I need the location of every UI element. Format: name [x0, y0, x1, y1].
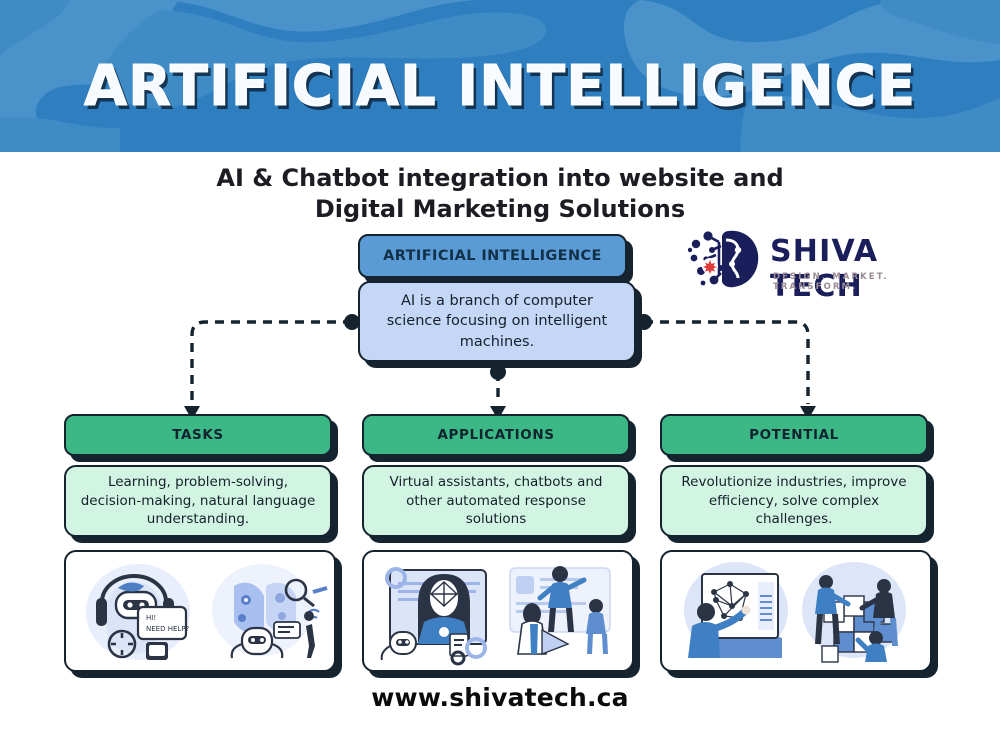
column-body-applications: Virtual assistants, chatbots and other a… [362, 465, 630, 537]
column-image-potential [660, 550, 932, 672]
connector-dot-right [636, 314, 652, 330]
column-header-potential-label: POTENTIAL [749, 427, 839, 443]
logo-wordmark: SHIVA TECH [770, 234, 946, 304]
column-body-tasks-text: Learning, problem-solving, decision-maki… [76, 473, 320, 530]
column-header-potential[interactable]: POTENTIAL [660, 414, 928, 456]
column-body-tasks: Learning, problem-solving, decision-maki… [64, 465, 332, 537]
column-body-applications-text: Virtual assistants, chatbots and other a… [374, 473, 618, 530]
column-image-applications [362, 550, 634, 672]
column-header-applications[interactable]: APPLICATIONS [362, 414, 630, 456]
subtitle-line-2: Digital Marketing Solutions [0, 194, 1000, 225]
brain-network-icon [688, 228, 766, 290]
subtitle-line-1: AI & Chatbot integration into website an… [0, 163, 1000, 194]
connector-dot-center [490, 364, 506, 380]
column-image-tasks: HI! NEED HELP? [64, 550, 336, 672]
virtual-assistant-illustration [364, 552, 632, 670]
column-header-tasks[interactable]: TASKS [64, 414, 332, 456]
column-body-potential-text: Revolutionize industries, improve effici… [672, 473, 916, 530]
ai-node-header[interactable]: ARTIFICIAL INTELLIGENCE [358, 234, 627, 278]
header-banner: ARTIFICIAL INTELLIGENCE [0, 0, 1000, 152]
infographic-page: ARTIFICIAL INTELLIGENCE AI & Chatbot int… [0, 0, 1000, 751]
column-potential: POTENTIAL Revolutionize industries, impr… [660, 414, 932, 672]
data-analysis-illustration [662, 552, 930, 670]
chatbot-support-illustration: HI! NEED HELP? [66, 552, 334, 670]
ai-node-description-text: AI is a branch of computer science focus… [372, 291, 622, 353]
page-title: ARTIFICIAL INTELLIGENCE [0, 54, 1000, 119]
column-tasks: TASKS Learning, problem-solving, decisio… [64, 414, 336, 672]
footer-url[interactable]: www.shivatech.ca [0, 683, 1000, 712]
ai-node-header-label: ARTIFICIAL INTELLIGENCE [383, 248, 602, 264]
column-header-applications-label: APPLICATIONS [437, 427, 554, 443]
illustration-prompt: NEED HELP? [146, 625, 190, 633]
illustration-greeting: HI! [146, 614, 156, 622]
logo-tagline: DESIGN. MARKET. TRANSFORM. [773, 272, 946, 292]
ai-node-description: AI is a branch of computer science focus… [358, 281, 636, 362]
brand-logo[interactable]: SHIVA TECH DESIGN. MARKET. TRANSFORM. [688, 228, 946, 294]
column-applications: APPLICATIONS Virtual assistants, chatbot… [362, 414, 634, 672]
subtitle: AI & Chatbot integration into website an… [0, 163, 1000, 225]
column-header-tasks-label: TASKS [172, 427, 224, 443]
column-body-potential: Revolutionize industries, improve effici… [660, 465, 928, 537]
